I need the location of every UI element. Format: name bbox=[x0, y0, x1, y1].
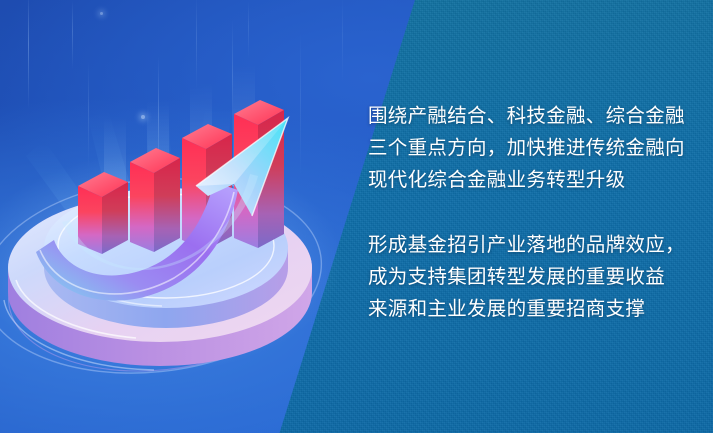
slide-canvas: 围绕产融结合、科技金融、综合金融 三个重点方向，加快推进传统金融向 现代化综合金… bbox=[0, 0, 713, 433]
paragraph-2-line-3: 来源和主业发展的重要招商支撑 bbox=[368, 293, 688, 325]
bar-2 bbox=[130, 148, 180, 252]
paragraph-2: 形成基金招引产业落地的品牌效应， 成为支持集团转型发展的重要收益 来源和主业发展… bbox=[368, 229, 688, 325]
paragraph-2-line-2: 成为支持集团转型发展的重要收益 bbox=[368, 261, 688, 293]
bar-1 bbox=[78, 172, 128, 254]
paragraph-1-line-3: 现代化综合金融业务转型升级 bbox=[368, 164, 688, 196]
paragraph-2-line-1: 形成基金招引产业落地的品牌效应， bbox=[368, 229, 688, 261]
paragraph-1: 围绕产融结合、科技金融、综合金融 三个重点方向，加快推进传统金融向 现代化综合金… bbox=[368, 100, 688, 196]
growth-chart-illustration bbox=[0, 0, 340, 433]
paragraph-1-line-1: 围绕产融结合、科技金融、综合金融 bbox=[368, 100, 688, 132]
paragraph-1-line-2: 三个重点方向，加快推进传统金融向 bbox=[368, 132, 688, 164]
text-content: 围绕产融结合、科技金融、综合金融 三个重点方向，加快推进传统金融向 现代化综合金… bbox=[368, 100, 688, 325]
